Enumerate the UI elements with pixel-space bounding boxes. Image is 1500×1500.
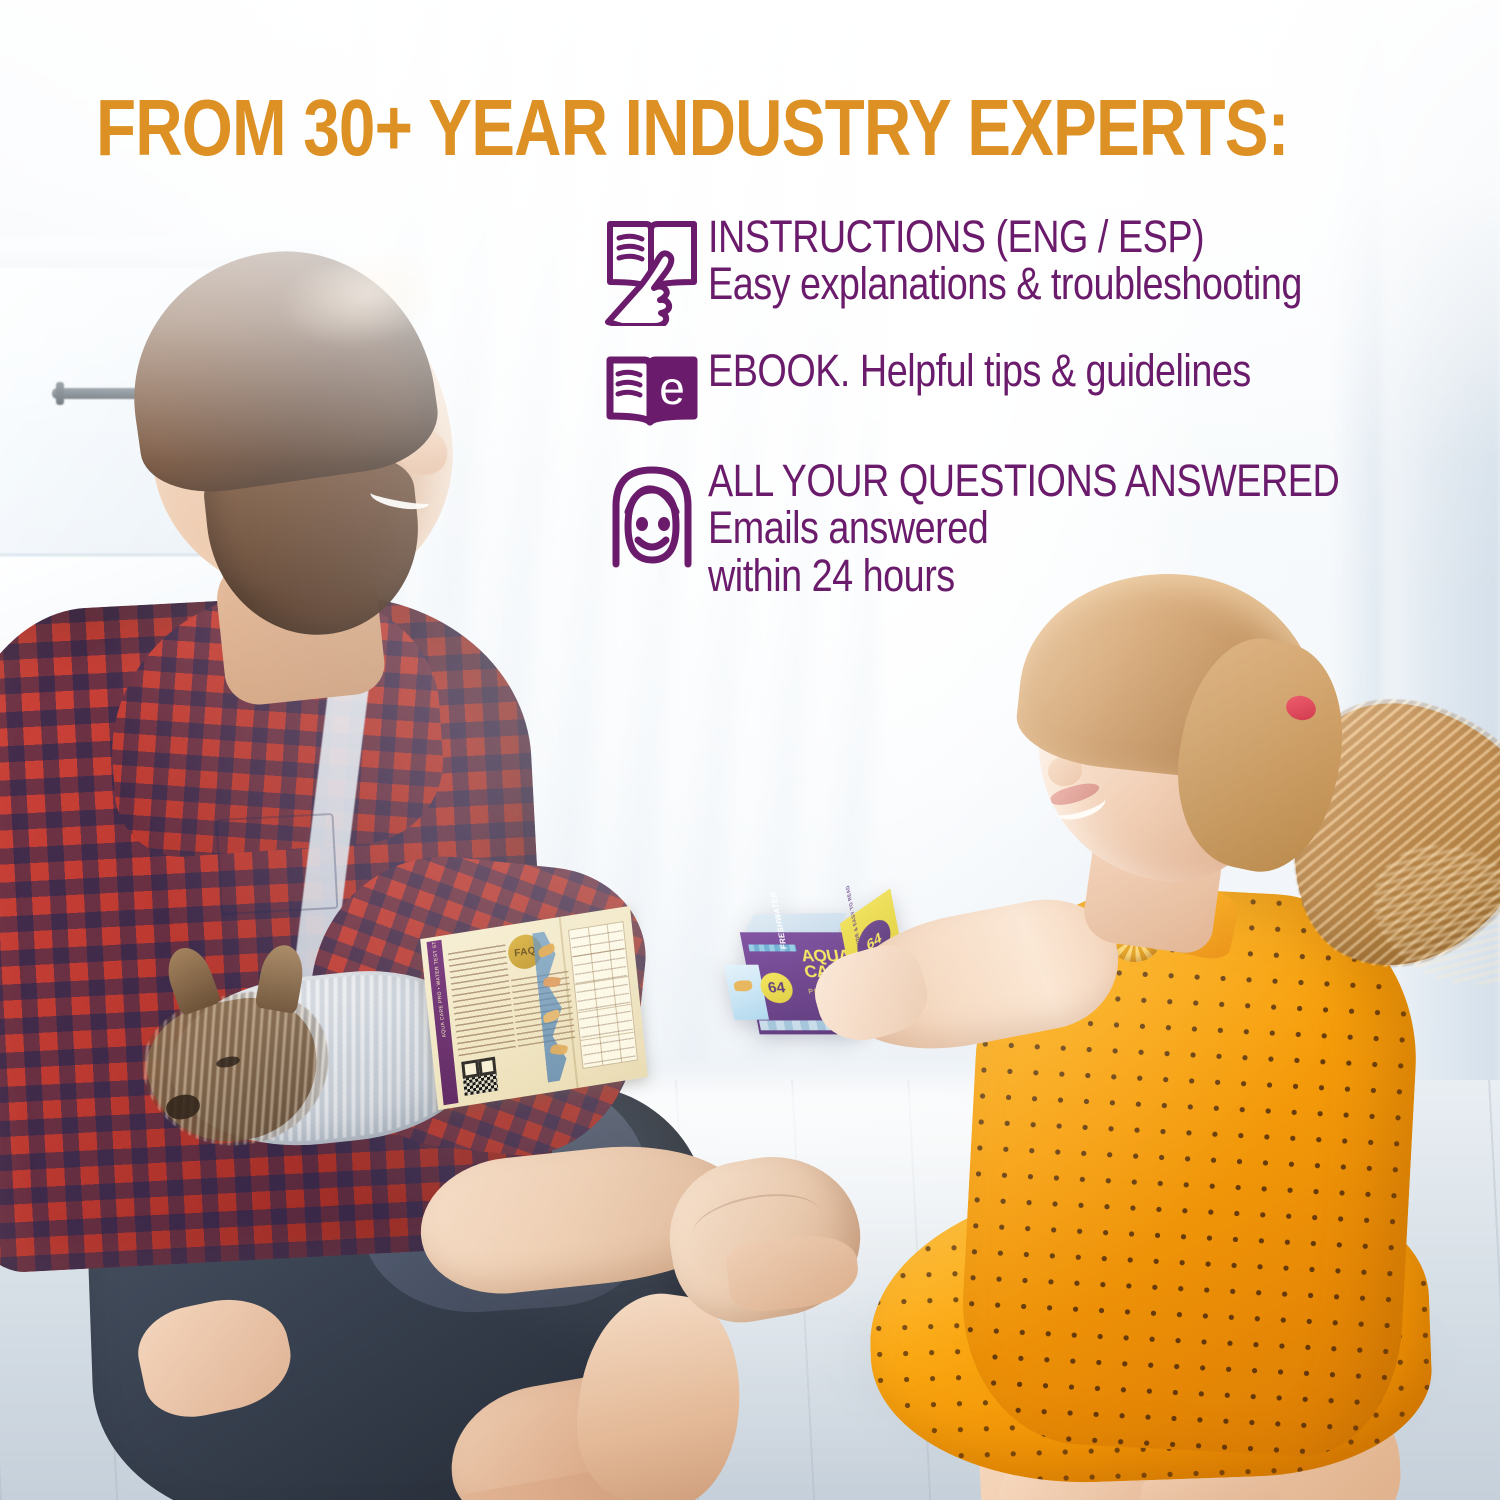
feature-subtitle: Emails answered within 24 hours xyxy=(708,504,1353,601)
feature-list: INSTRUCTIONS (ENG / ESP) Easy explanatio… xyxy=(596,210,1476,601)
feature-subtitle: Easy explanations & troubleshooting xyxy=(708,260,1353,309)
smiling-face-icon xyxy=(596,454,708,570)
instruction-leaflet: AQUA CARE PRO • WATER TEST STRIPS FAQ xyxy=(420,906,648,1110)
man-shirt-pocket xyxy=(216,813,339,915)
feature-title: ALL YOUR QUESTIONS ANSWERED xyxy=(708,458,1353,504)
leaflet-spine-text: AQUA CARE PRO • WATER TEST STRIPS xyxy=(434,961,448,1038)
promo-image: AQUA CARE PRO • WATER TEST STRIPS FAQ xyxy=(0,0,1500,1500)
feature-row-ebook: e EBOOK. Helpful tips & guidelines xyxy=(596,344,1476,436)
dog-ear-left xyxy=(160,942,221,1017)
feature-text-ebook: EBOOK. Helpful tips & guidelines xyxy=(708,344,1476,394)
book-pointing-hand-icon xyxy=(596,210,708,326)
feature-row-support: ALL YOUR QUESTIONS ANSWERED Emails answe… xyxy=(596,454,1476,601)
page-headline: FROM 30+ YEAR INDUSTRY EXPERTS: xyxy=(96,88,1195,168)
feature-title: EBOOK. Helpful tips & guidelines xyxy=(708,348,1353,394)
feature-title: INSTRUCTIONS (ENG / ESP) xyxy=(708,214,1353,260)
feature-text-instructions: INSTRUCTIONS (ENG / ESP) Easy explanatio… xyxy=(708,210,1476,308)
feature-row-instructions: INSTRUCTIONS (ENG / ESP) Easy explanatio… xyxy=(596,210,1476,326)
ebook-icon: e xyxy=(596,344,708,436)
qr-code xyxy=(461,1057,498,1096)
leaflet-text-column-1 xyxy=(448,944,516,1057)
box-test-strip-graphic xyxy=(748,945,796,952)
girl-figure xyxy=(810,560,1500,1500)
feature-text-support: ALL YOUR QUESTIONS ANSWERED Emails answe… xyxy=(708,454,1476,601)
svg-text:e: e xyxy=(659,362,685,414)
man-figure xyxy=(0,250,700,1500)
